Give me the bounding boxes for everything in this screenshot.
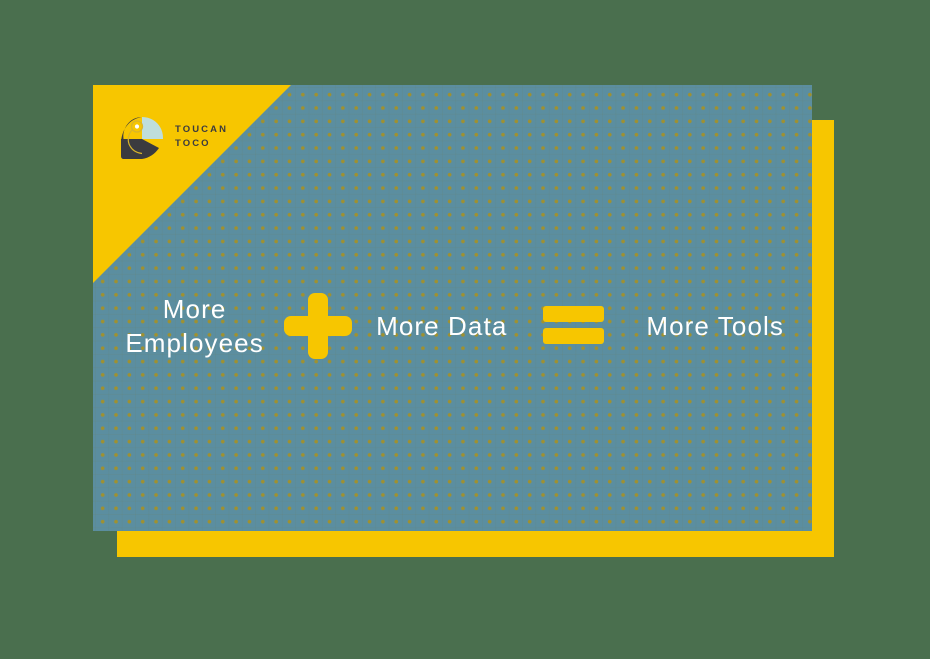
equals-top-bar — [543, 306, 604, 322]
toucan-bird-icon — [117, 113, 167, 161]
brand-wordmark: TOUCAN TOCO — [175, 123, 228, 151]
equals-bottom-bar — [543, 328, 604, 344]
term-more-tools: More Tools — [618, 309, 812, 343]
term-more-data: More Data — [356, 309, 527, 343]
brand-name-line2: TOCO — [175, 137, 228, 151]
brand-name-line1: TOUCAN — [175, 123, 228, 137]
plus-vertical-bar — [308, 293, 328, 359]
term-more-employees: More Employees — [109, 292, 280, 360]
equals-operator-icon — [543, 306, 604, 346]
teal-content-panel: TOUCAN TOCO More Employees More Data Mor… — [93, 85, 812, 531]
slide-canvas: TOUCAN TOCO More Employees More Data Mor… — [0, 0, 930, 659]
brand-logo: TOUCAN TOCO — [117, 113, 228, 161]
equation-row: More Employees More Data More Tools — [93, 281, 812, 371]
plus-operator-icon — [284, 293, 352, 359]
